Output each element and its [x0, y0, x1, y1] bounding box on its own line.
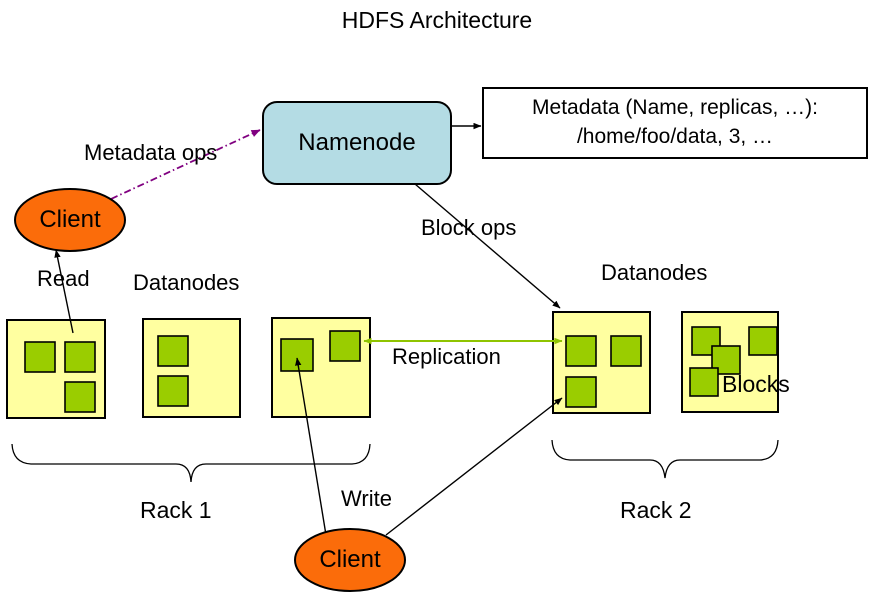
block	[158, 376, 188, 406]
namenode-label: Namenode	[263, 102, 451, 184]
hdfs-architecture-diagram: HDFS Architecture	[0, 0, 874, 604]
rack-1-label: Rack 1	[140, 498, 212, 523]
metadata-ops-label: Metadata ops	[84, 141, 217, 165]
block	[566, 336, 596, 366]
metadata-box-line1: Metadata (Name, replicas, …):	[483, 93, 867, 123]
datanodes-left-label: Datanodes	[133, 271, 239, 295]
replication-label: Replication	[392, 345, 501, 369]
diagram-canvas	[0, 0, 874, 604]
read-label: Read	[37, 267, 90, 291]
rack-2-label: Rack 2	[620, 498, 692, 523]
client-bottom-label: Client	[295, 529, 405, 591]
datanodes-right-label: Datanodes	[601, 261, 707, 285]
write-label: Write	[341, 487, 392, 511]
write-arrow-right	[386, 398, 562, 535]
block	[65, 382, 95, 412]
block	[330, 331, 360, 361]
block	[281, 339, 313, 371]
block	[566, 377, 596, 407]
block-ops-label: Block ops	[421, 216, 516, 240]
block	[690, 368, 718, 396]
block	[65, 342, 95, 372]
block-ops-arrow	[415, 184, 560, 308]
client-left-label: Client	[15, 189, 125, 251]
datanode-2[interactable]	[143, 319, 240, 417]
block	[158, 336, 188, 366]
block	[25, 342, 55, 372]
block	[749, 327, 777, 355]
datanode-3[interactable]	[272, 318, 370, 417]
blocks-label: Blocks	[722, 372, 790, 397]
datanode-4[interactable]	[553, 312, 650, 413]
block	[611, 336, 641, 366]
rack-2-brace	[552, 440, 778, 478]
datanode-1[interactable]	[7, 320, 105, 418]
metadata-box-line2: /home/foo/data, 3, …	[483, 122, 867, 152]
